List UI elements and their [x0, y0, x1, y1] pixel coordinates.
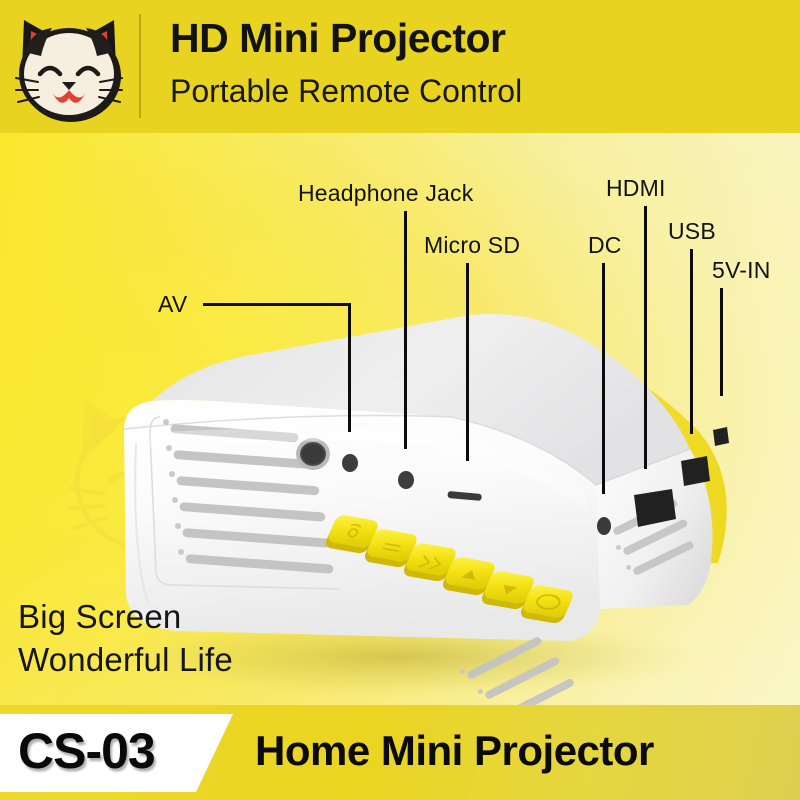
callout-label-usb: USB: [668, 218, 716, 245]
callout-label-dc: DC: [588, 232, 622, 259]
page-title: HD Mini Projector: [170, 15, 505, 62]
leader-line-dc: [602, 263, 605, 494]
page-subtitle: Portable Remote Control: [170, 73, 522, 110]
callout-label-headphone-jack: Headphone Jack: [298, 180, 473, 207]
footer-product-name: Home Mini Projector: [255, 727, 654, 775]
cat-face-watermark-icon: [58, 378, 248, 563]
callout-label-5v-in: 5V-IN: [712, 257, 771, 284]
model-number: CS-03: [18, 722, 155, 780]
callout-label-micro-sd: Micro SD: [424, 232, 520, 259]
leader-line-5v-in: [720, 288, 723, 396]
leader-line-micro-sd: [466, 263, 469, 461]
leader-line-av-horizontal: [203, 303, 350, 306]
tagline-line-1: Big Screen: [18, 596, 233, 639]
footer-banner: CS-03 Home Mini Projector: [0, 705, 800, 800]
callout-label-hdmi: HDMI: [606, 175, 666, 202]
product-infographic: HD Mini Projector Portable Remote Contro…: [0, 0, 800, 800]
header-divider: [139, 14, 141, 118]
cat-face-logo-icon: [8, 6, 130, 126]
leader-line-usb: [690, 249, 693, 434]
product-stage: AV Headphone Jack Micro SD DC HDMI USB 5…: [0, 133, 800, 705]
tagline-block: Big Screen Wonderful Life: [18, 596, 233, 682]
leader-line-av-vertical: [348, 303, 351, 432]
header-banner: HD Mini Projector Portable Remote Contro…: [0, 0, 800, 133]
tagline-line-2: Wonderful Life: [18, 639, 233, 682]
leader-line-headphone-jack: [404, 211, 407, 449]
callout-label-av: AV: [158, 291, 187, 318]
leader-line-hdmi: [644, 206, 647, 469]
